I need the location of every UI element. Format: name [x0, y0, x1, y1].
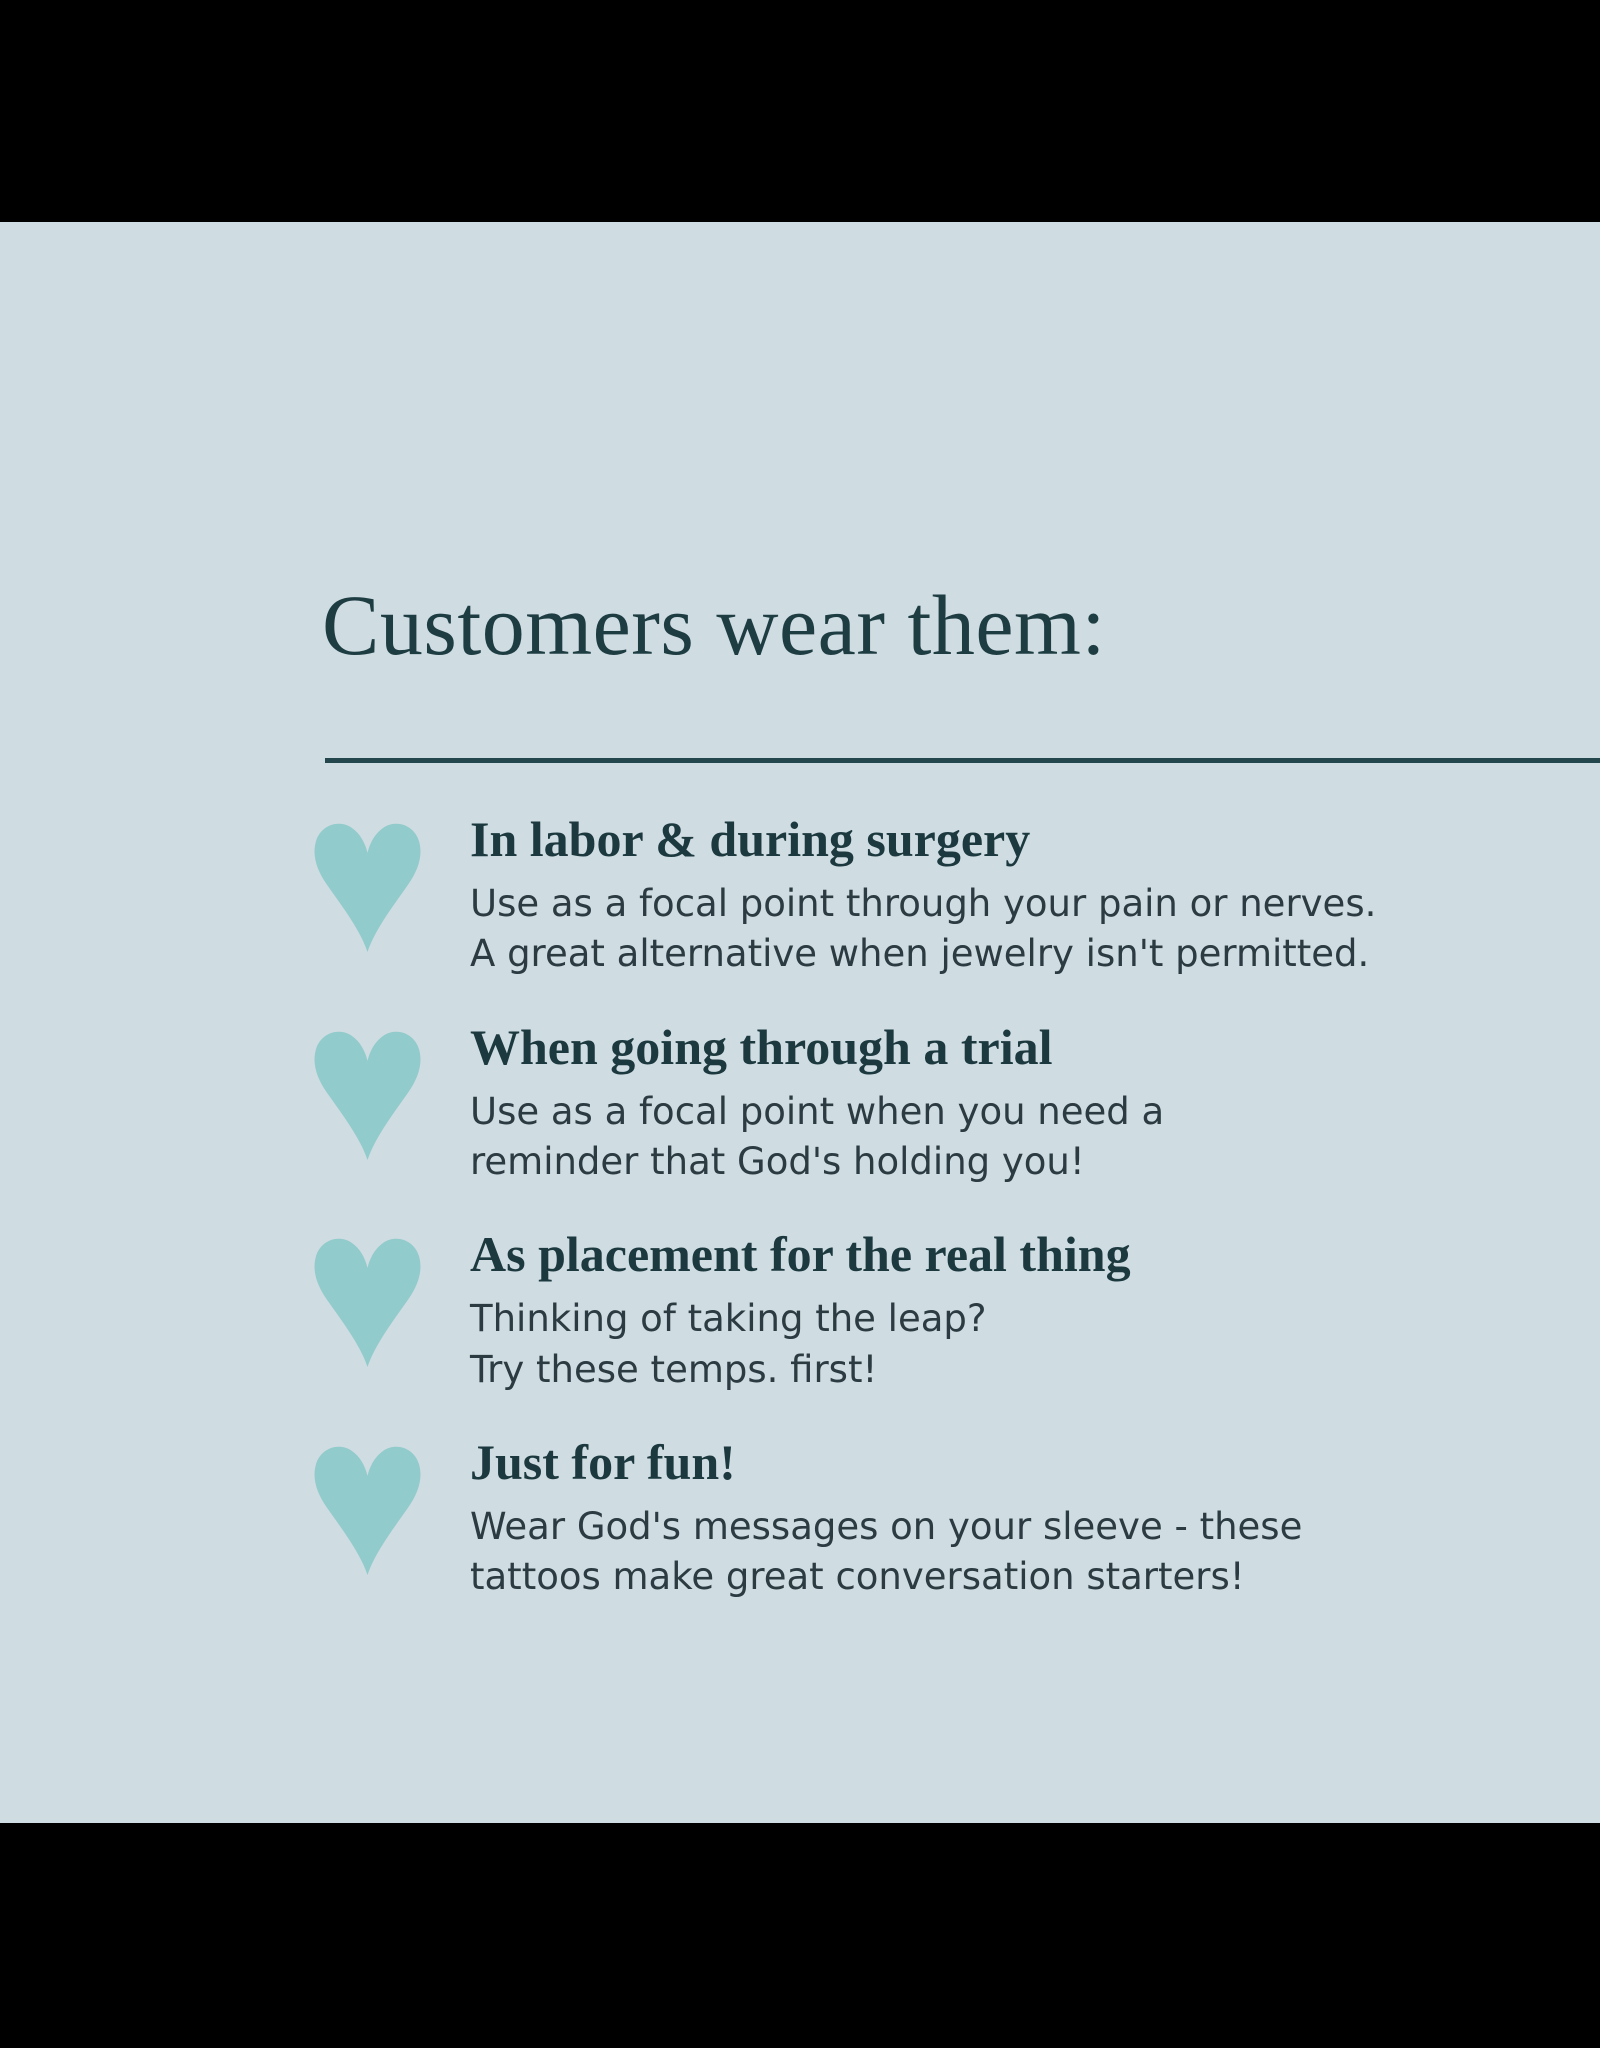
list-item-text: In labor & during surgery Use as a focal… — [470, 812, 1600, 980]
heart-icon-wrapper — [310, 1020, 470, 1160]
screenshot-frame: Customers wear them: In labor & during s… — [0, 0, 1600, 2048]
letterbox-top-bar — [0, 0, 1600, 222]
heart-icon — [310, 1237, 425, 1367]
body-line: tattoos make great conversation starters… — [470, 1552, 1600, 1602]
heart-icon — [310, 822, 425, 952]
list-item-text: When going through a trial Use as a foca… — [470, 1020, 1600, 1188]
benefit-list: In labor & during surgery Use as a focal… — [0, 812, 1600, 1603]
heart-icon-wrapper — [310, 1435, 470, 1575]
list-item-body: Use as a focal point when you need a rem… — [470, 1087, 1600, 1188]
list-item-text: Just for fun! Wear God's messages on you… — [470, 1435, 1600, 1603]
heart-icon — [310, 1445, 425, 1575]
heart-icon-wrapper — [310, 1227, 470, 1367]
letterbox-bottom-bar — [0, 1823, 1600, 2048]
body-line: A great alternative when jewelry isn't p… — [470, 929, 1600, 979]
body-line: reminder that God's holding you! — [470, 1137, 1600, 1187]
list-item: When going through a trial Use as a foca… — [0, 1020, 1600, 1188]
list-item-text: As placement for the real thing Thinking… — [470, 1227, 1600, 1395]
list-item-heading: As placement for the real thing — [470, 1227, 1600, 1282]
list-item-body: Thinking of taking the leap? Try these t… — [470, 1294, 1600, 1395]
list-item-body: Wear God's messages on your sleeve - the… — [470, 1502, 1600, 1603]
list-item-heading: When going through a trial — [470, 1020, 1600, 1075]
list-item: In labor & during surgery Use as a focal… — [0, 812, 1600, 980]
title-divider — [325, 758, 1600, 763]
poster-card: Customers wear them: In labor & during s… — [0, 222, 1600, 1823]
body-line: Try these temps. first! — [470, 1345, 1600, 1395]
list-item-heading: In labor & during surgery — [470, 812, 1600, 867]
body-line: Wear God's messages on your sleeve - the… — [470, 1502, 1600, 1552]
body-line: Thinking of taking the leap? — [470, 1294, 1600, 1344]
list-item: Just for fun! Wear God's messages on you… — [0, 1435, 1600, 1603]
page-title: Customers wear them: — [322, 582, 1106, 668]
body-line: Use as a focal point through your pain o… — [470, 879, 1600, 929]
heart-icon-wrapper — [310, 812, 470, 952]
list-item-heading: Just for fun! — [470, 1435, 1600, 1490]
heart-icon — [310, 1030, 425, 1160]
list-item: As placement for the real thing Thinking… — [0, 1227, 1600, 1395]
list-item-body: Use as a focal point through your pain o… — [470, 879, 1600, 980]
body-line: Use as a focal point when you need a — [470, 1087, 1600, 1137]
